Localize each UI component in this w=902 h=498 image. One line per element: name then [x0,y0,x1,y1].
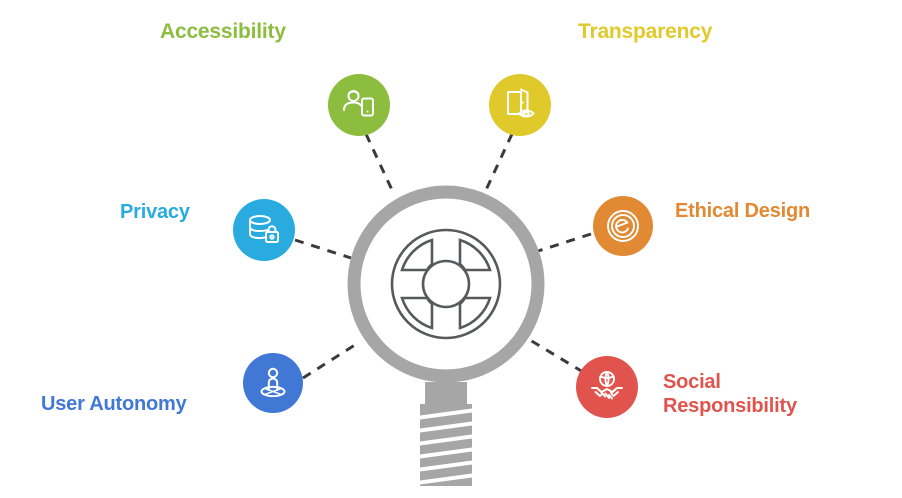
open-door-with-eye-icon [500,85,540,125]
letter-e-in-circles-icon [603,206,643,246]
node-icon-privacy[interactable] [233,199,295,261]
node-icon-user-autonomy[interactable] [243,353,303,413]
handshake-with-globe-icon [587,367,627,407]
node-label-accessibility: Accessibility [160,20,286,45]
magnifier-lens-ring [354,192,538,376]
node-icon-ethical-design[interactable] [593,196,653,256]
magnifying-glass [0,0,902,498]
node-icon-social-responsibility[interactable] [576,356,638,418]
node-label-social-responsibility: Social Responsibility [663,371,797,418]
person-on-platform-icon [253,363,293,403]
diagram-canvas: Accessibility Transparency Pr [0,0,902,498]
node-label-privacy: Privacy [120,201,190,225]
magnifier-handle-neck [425,382,467,404]
node-label-transparency: Transparency [578,20,712,45]
node-label-ethical-design: Ethical Design [675,200,810,224]
person-with-mobile-device-icon [339,85,379,125]
node-icon-transparency[interactable] [489,74,551,136]
database-with-lock-icon [244,210,284,250]
node-icon-accessibility[interactable] [328,74,390,136]
node-label-user-autonomy: User Autonomy [41,393,187,417]
